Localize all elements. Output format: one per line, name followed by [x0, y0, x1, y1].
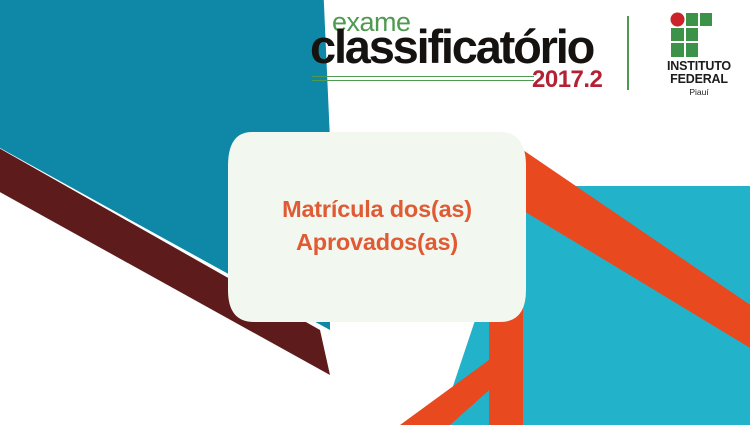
- callout-line-2: Aprovados(as): [296, 226, 458, 259]
- callout-card: Matrícula dos(as) Aprovados(as): [228, 128, 526, 324]
- callout-text-block: Matrícula dos(as) Aprovados(as): [228, 128, 526, 324]
- callout-line-1: Matrícula dos(as): [282, 193, 472, 226]
- banner-canvas: exame classificatório 2017.2: [0, 0, 750, 425]
